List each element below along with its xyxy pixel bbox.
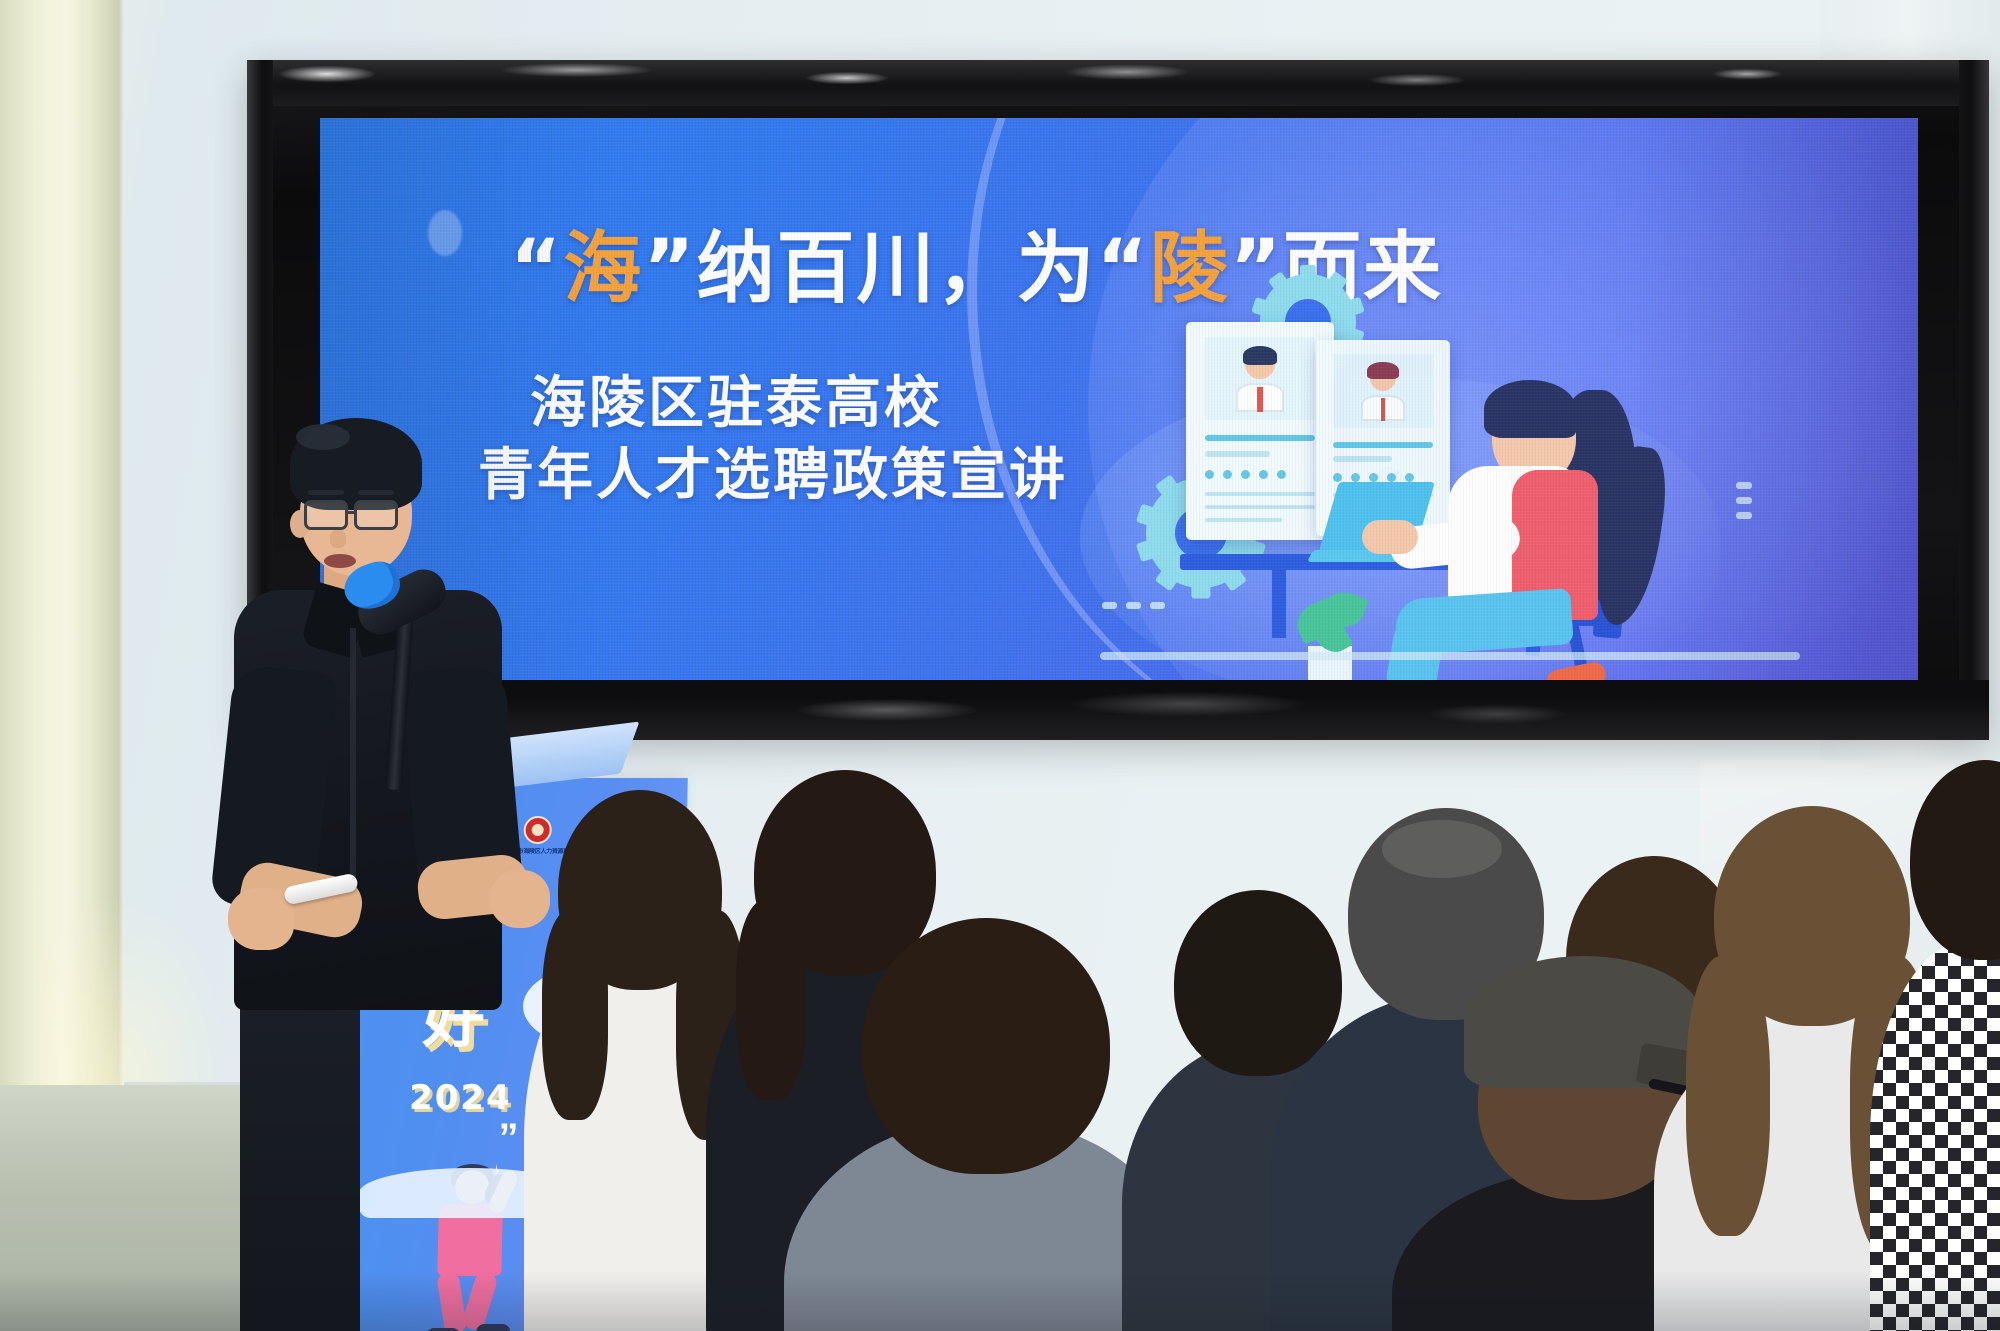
presenter-hair: [290, 418, 422, 510]
audience-head: [862, 918, 1110, 1174]
audience-hair-strand: [1686, 956, 1770, 1236]
podium-quote-close: ”: [498, 1116, 519, 1161]
presenter-legs: [240, 998, 360, 1331]
conference-room-scene: “海”纳百川，为“陵”而来 海陵区驻泰高校 青年人才选聘政策宣讲: [0, 0, 2000, 1331]
presenter-eyebrow-right: [358, 490, 394, 495]
glasses-lens-left: [304, 500, 348, 530]
screen-vignette: [320, 118, 1918, 680]
audience-bald-sheen: [1382, 820, 1502, 878]
presenter-mouth: [324, 554, 356, 568]
audience-hair-strand: [542, 910, 608, 1120]
audience-head: [1910, 760, 2000, 960]
presenter-nose: [330, 530, 346, 548]
audience-head: [1174, 890, 1342, 1076]
presentation-slide: “海”纳百川，为“陵”而来 海陵区驻泰高校 青年人才选聘政策宣讲: [320, 118, 1918, 680]
audience-member-9: [1900, 760, 2000, 1331]
audience-hair-strand: [736, 900, 806, 1100]
glasses-bridge: [348, 511, 356, 514]
screen-bezel-top: [247, 60, 1989, 106]
glasses-lens-right: [354, 500, 398, 530]
presenter: [212, 418, 542, 1118]
screen-bezel-right: [1959, 60, 1989, 740]
presenter-eyebrow-left: [308, 490, 344, 495]
presenter-hand-right: [490, 870, 550, 928]
audience-member-3: [836, 918, 1136, 1331]
